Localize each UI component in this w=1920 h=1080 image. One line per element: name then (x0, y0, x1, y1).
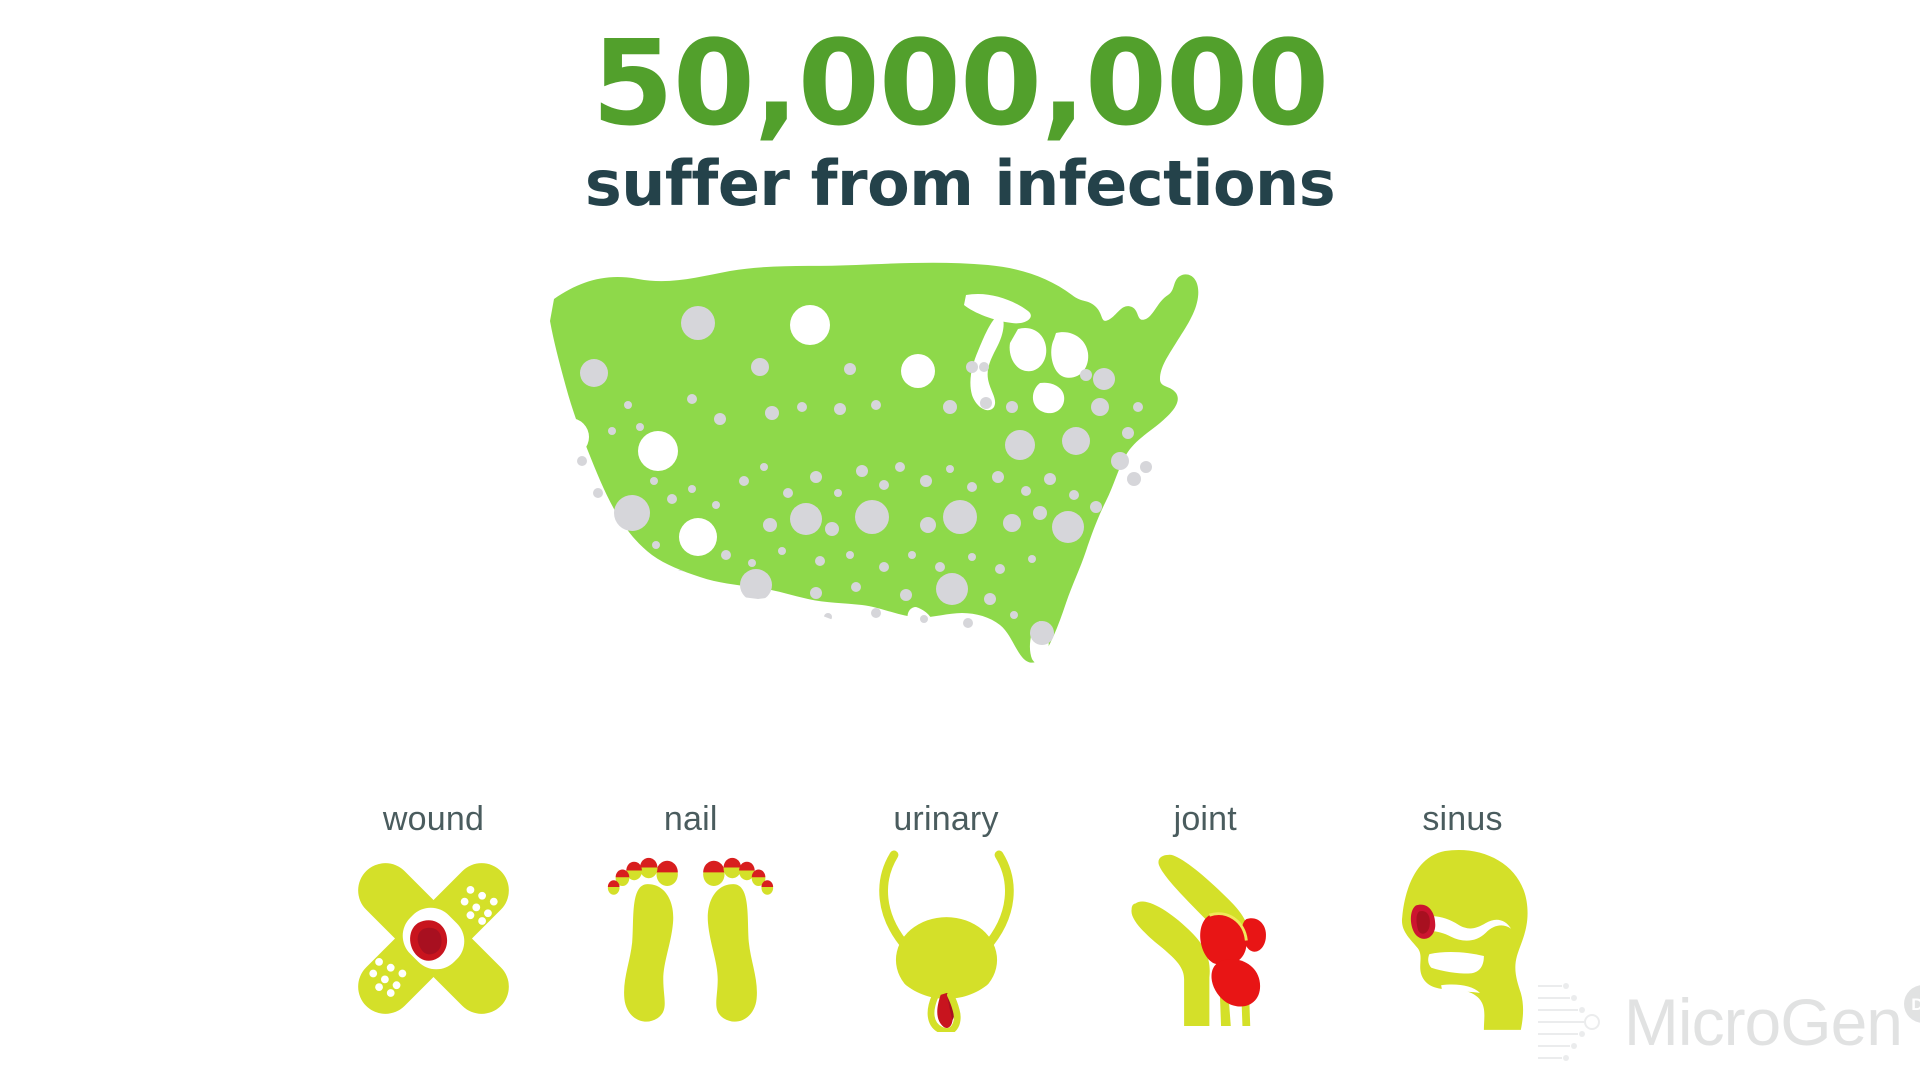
infection-label-nail: nail (664, 800, 718, 839)
infection-label-wound: wound (383, 800, 484, 839)
map-landmass (550, 263, 1198, 665)
knee-joint-icon (1118, 847, 1293, 1032)
infographic-slide: 50,000,000 suffer from infections (0, 0, 1920, 1080)
microgen-logo-icon (1536, 978, 1614, 1066)
infection-label-sinus: sinus (1422, 800, 1502, 839)
footprints-icon (603, 847, 778, 1032)
infection-type-row: wound (330, 800, 1570, 1060)
watermark: MicroGen DX (1536, 978, 1902, 1066)
infection-card-nail[interactable]: nail (583, 800, 798, 1032)
watermark-dx-badge: DX (1904, 985, 1920, 1023)
infection-label-urinary: urinary (893, 800, 998, 839)
infection-label-joint: joint (1174, 800, 1237, 839)
infection-card-wound[interactable]: wound (326, 800, 541, 1032)
page-title: 50,000,000 (0, 24, 1920, 142)
watermark-brand: MicroGen DX (1624, 989, 1902, 1055)
headline-block: 50,000,000 suffer from infections (0, 24, 1920, 219)
us-map (520, 255, 1420, 775)
watermark-brand-text: MicroGen (1624, 985, 1902, 1059)
crossed-bandages-icon (346, 847, 521, 1032)
infection-card-joint[interactable]: joint (1098, 800, 1313, 1032)
page-subtitle: suffer from infections (0, 148, 1920, 219)
infection-card-urinary[interactable]: urinary (839, 800, 1054, 1032)
bladder-icon (859, 847, 1034, 1032)
head-profile-icon (1375, 847, 1550, 1032)
